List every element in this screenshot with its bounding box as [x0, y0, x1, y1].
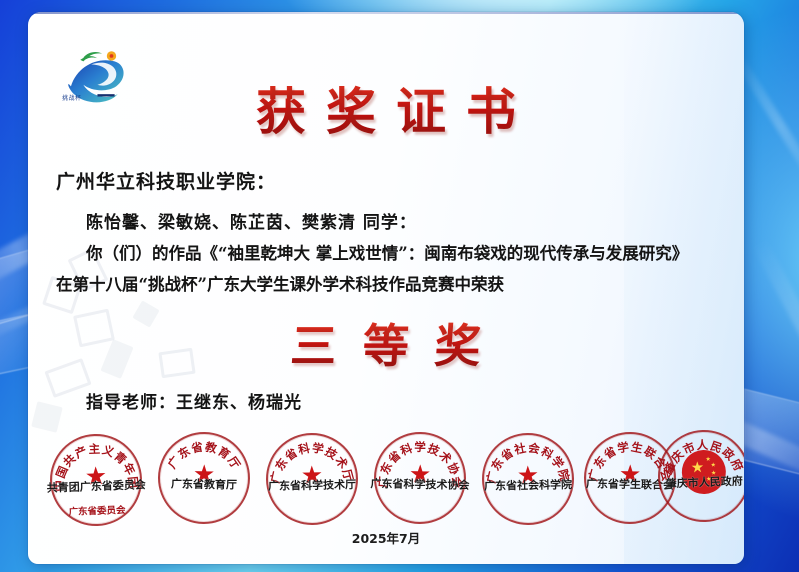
- seal-row: 中国共产主义青年团 ★ 广东省委员会 共青团广东省委员会 广东省教育厅 ★ 广东…: [28, 430, 744, 526]
- certificate-title: 获奖证书: [28, 72, 744, 144]
- seal-zhaoqing-government: 肇庆市人民政府 ★ ★ ★ ★ ★ 肇庆市人民政府: [656, 428, 744, 523]
- seal-kexiejixie: 广东省科学技术协会 ★ 广东省科学技术协会: [373, 431, 467, 525]
- seal-label: 肇庆市人民政府: [665, 472, 743, 491]
- seal-gongqingtuan: 中国共产主义青年团 ★ 广东省委员会 共青团广东省委员会: [48, 432, 143, 527]
- advisor-line: 指导老师：王继东、杨瑞光: [86, 388, 744, 413]
- issue-date: 2025年7月: [28, 528, 744, 547]
- seal-jiaoyuting: 广东省教育厅 ★ 广东省教育厅: [157, 431, 251, 525]
- student-names: 陈怡馨、梁敏娆、陈芷茵、樊紫清 同学：: [86, 208, 744, 233]
- seal-label: 广东省科学技术厅: [268, 476, 356, 494]
- seal-label: 广东省教育厅: [171, 475, 237, 492]
- seal-label: 广东省科学技术协会: [370, 475, 469, 493]
- work-title-line: 你（们）的作品《“袖里乾坤大 掌上戏世情”：闽南布袋戏的现代传承与发展研究》: [86, 240, 744, 264]
- paper-top-edge: [28, 12, 744, 14]
- background-glass-shape: [744, 389, 799, 484]
- award-level: 三等奖: [28, 310, 744, 376]
- seal-label: 广东省社会科学院: [484, 476, 572, 494]
- emblem-small-star: ★: [711, 463, 717, 469]
- seal-kexuejishuting: 广东省科学技术厅 ★ 广东省科学技术厅: [265, 432, 359, 526]
- recipient-organization: 广州华立科技职业学院：: [56, 167, 744, 194]
- certificate-photo: 挑战杯 获奖证书 广州华立科技职业学院： 陈怡馨、梁敏娆、陈芷茵、樊紫清 同学：…: [0, 0, 799, 572]
- certificate-paper: 挑战杯 获奖证书 广州华立科技职业学院： 陈怡馨、梁敏娆、陈芷茵、樊紫清 同学：…: [28, 12, 744, 564]
- competition-line: 在第十八届“挑战杯”广东大学生课外学术科技作品竞赛中荣获: [56, 271, 744, 295]
- watermark-shape: [31, 401, 63, 433]
- seal-shehuikexueyuan: 广东省社会科学院 ★ 广东省社会科学院: [481, 432, 575, 526]
